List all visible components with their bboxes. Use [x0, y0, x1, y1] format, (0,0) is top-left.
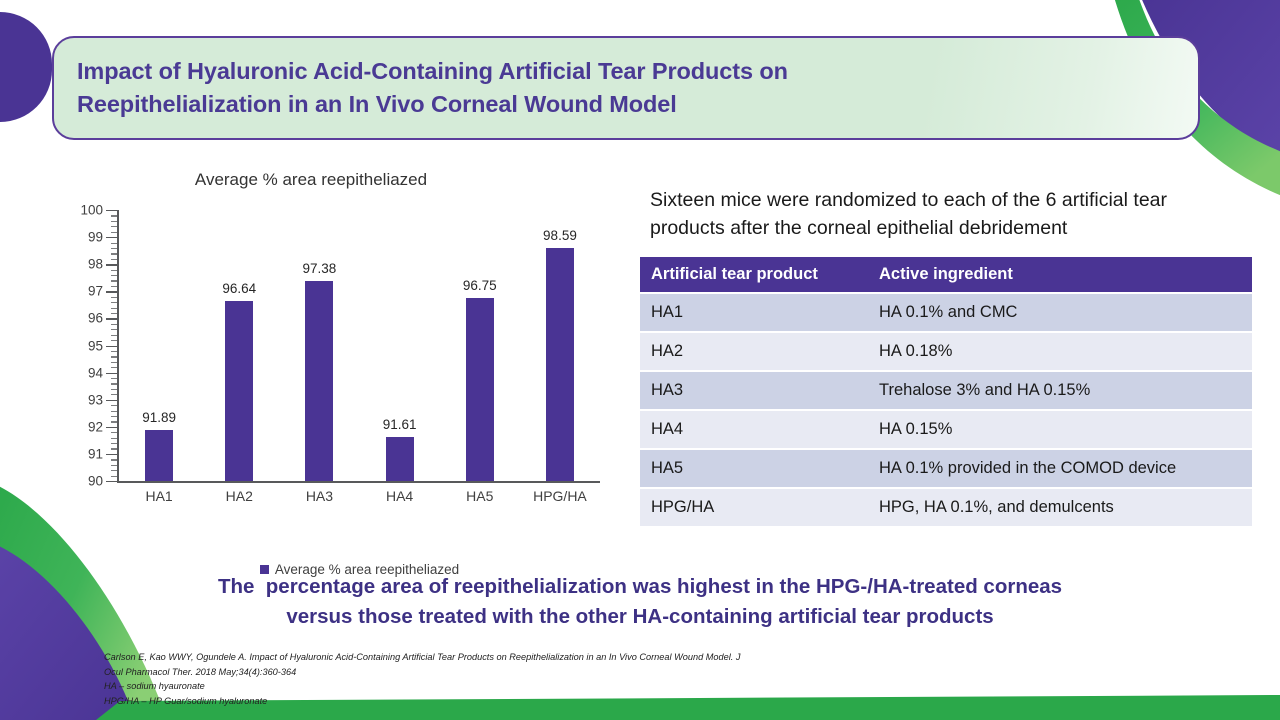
- chart-bar[interactable]: [386, 437, 414, 481]
- table-body: HA1HA 0.1% and CMCHA2HA 0.18%HA3Trehalos…: [640, 293, 1252, 526]
- chart-bar[interactable]: [225, 301, 253, 481]
- chart-bar[interactable]: [546, 248, 574, 481]
- table-cell-ingredient: HA 0.15%: [868, 410, 1252, 449]
- y-axis-tick: [106, 373, 117, 374]
- y-axis-minor-tick: [111, 443, 117, 444]
- chart-bar-group: 98.59: [520, 210, 600, 481]
- footnotes: Carlson E, Kao WWY, Ogundele A. Impact o…: [104, 650, 1004, 708]
- title-banner: Impact of Hyaluronic Acid-Containing Art…: [52, 36, 1200, 140]
- y-axis-minor-tick: [111, 324, 117, 325]
- y-axis-minor-tick: [111, 232, 117, 233]
- table-header-row: Artificial tear product Active ingredien…: [640, 257, 1252, 293]
- table-cell-ingredient: HPG, HA 0.1%, and demulcents: [868, 488, 1252, 526]
- y-axis-tick: [106, 318, 117, 319]
- y-axis-tick: [106, 264, 117, 265]
- bar-value-label: 96.75: [463, 278, 497, 293]
- y-axis-tick-label: 98: [67, 257, 103, 272]
- y-axis-minor-tick: [111, 389, 117, 390]
- y-axis-minor-tick: [111, 394, 117, 395]
- y-axis-minor-tick: [111, 411, 117, 412]
- y-axis-minor-tick: [111, 438, 117, 439]
- table-header-ingredient: Active ingredient: [868, 257, 1252, 293]
- y-axis-minor-tick: [111, 286, 117, 287]
- y-axis-minor-tick: [111, 416, 117, 417]
- y-axis-minor-tick: [111, 383, 117, 384]
- conclusion-statement: The percentage area of reepithelializati…: [120, 572, 1160, 631]
- y-axis-minor-tick: [111, 275, 117, 276]
- chart-bar-group: 91.89: [119, 210, 199, 481]
- y-axis-minor-tick: [111, 356, 117, 357]
- table-cell-product: HA3: [640, 371, 868, 410]
- y-axis-minor-tick: [111, 405, 117, 406]
- y-axis-minor-tick: [111, 297, 117, 298]
- y-axis-tick-label: 99: [67, 230, 103, 245]
- table-row: HA1HA 0.1% and CMC: [640, 293, 1252, 332]
- bar-value-label: 98.59: [543, 228, 577, 243]
- bar-value-label: 91.89: [142, 410, 176, 425]
- y-axis-tick-label: 90: [67, 474, 103, 489]
- artificial-tear-products-table: Artificial tear product Active ingredien…: [640, 257, 1252, 526]
- y-axis-minor-tick: [111, 329, 117, 330]
- citation-line-1: Carlson E, Kao WWY, Ogundele A. Impact o…: [104, 650, 1004, 665]
- slide-root: Impact of Hyaluronic Acid-Containing Art…: [0, 0, 1280, 720]
- y-axis-tick: [106, 400, 117, 401]
- x-axis-label: HPG/HA: [520, 488, 600, 504]
- y-axis-minor-tick: [111, 421, 117, 422]
- y-axis-tick-label: 95: [67, 338, 103, 353]
- y-axis-minor-tick: [111, 459, 117, 460]
- y-axis-tick: [106, 210, 117, 211]
- y-axis-tick-label: 96: [67, 311, 103, 326]
- table-cell-product: HA1: [640, 293, 868, 332]
- abbreviation-hpgha: HPG/HA – HP Guar/sodium hyaluronate: [104, 694, 1004, 709]
- citation-line-2: Ocul Pharmacol Ther. 2018 May;34(4):360-…: [104, 665, 1004, 680]
- chart-title: Average % area reepitheliazed: [46, 170, 576, 190]
- intro-paragraph: Sixteen mice were randomized to each of …: [650, 186, 1216, 243]
- y-axis-tick-label: 92: [67, 419, 103, 434]
- chart-bar-group: 97.38: [279, 210, 359, 481]
- chart-bar-group: 96.75: [440, 210, 520, 481]
- x-axis-label: HA1: [119, 488, 199, 504]
- x-axis-label: HA3: [279, 488, 359, 504]
- y-axis-tick-label: 91: [67, 446, 103, 461]
- table-cell-product: HA2: [640, 332, 868, 371]
- x-axis-label: HA4: [360, 488, 440, 504]
- table-row: HPG/HAHPG, HA 0.1%, and demulcents: [640, 488, 1252, 526]
- chart-bar-group: 91.61: [360, 210, 440, 481]
- table-cell-product: HA4: [640, 410, 868, 449]
- abbreviation-ha: HA – sodium hyauronate: [104, 679, 1004, 694]
- y-axis-minor-tick: [111, 351, 117, 352]
- y-axis-tick-label: 97: [67, 284, 103, 299]
- table-header-product: Artificial tear product: [640, 257, 868, 293]
- y-axis-minor-tick: [111, 243, 117, 244]
- y-axis-minor-tick: [111, 253, 117, 254]
- chart-bar[interactable]: [305, 281, 333, 481]
- table-row: HA2HA 0.18%: [640, 332, 1252, 371]
- chart-bar-group: 96.64: [199, 210, 279, 481]
- bar-chart: Average % area reepitheliazed 1009998979…: [58, 168, 618, 548]
- table-cell-ingredient: Trehalose 3% and HA 0.15%: [868, 371, 1252, 410]
- x-axis-line: [117, 481, 600, 483]
- y-axis-tick-label: 100: [67, 203, 103, 218]
- y-axis-minor-tick: [111, 465, 117, 466]
- y-axis-minor-tick: [111, 448, 117, 449]
- y-axis-tick-label: 94: [67, 365, 103, 380]
- y-axis-minor-tick: [111, 259, 117, 260]
- decorative-blob-top-left: [0, 12, 52, 122]
- y-axis-minor-tick: [111, 335, 117, 336]
- chart-bar[interactable]: [466, 298, 494, 481]
- chart-plot-area: 10099989796959493929190 91.8996.6497.389…: [88, 210, 600, 482]
- y-axis-minor-tick: [111, 226, 117, 227]
- y-axis-minor-tick: [111, 270, 117, 271]
- y-axis-minor-tick: [111, 248, 117, 249]
- y-axis-minor-tick: [111, 362, 117, 363]
- y-axis-minor-tick: [111, 378, 117, 379]
- y-axis-minor-tick: [111, 215, 117, 216]
- y-axis-tick: [106, 427, 117, 428]
- x-axis-label: HA2: [199, 488, 279, 504]
- table-row: HA4HA 0.15%: [640, 410, 1252, 449]
- y-axis-tick-label: 93: [67, 392, 103, 407]
- y-axis-minor-tick: [111, 476, 117, 477]
- y-axis-minor-tick: [111, 308, 117, 309]
- y-axis-tick: [106, 454, 117, 455]
- y-axis-tick: [106, 237, 117, 238]
- table-cell-product: HPG/HA: [640, 488, 868, 526]
- y-axis-minor-tick: [111, 432, 117, 433]
- y-axis-tick: [106, 481, 117, 482]
- y-axis-tick: [106, 291, 117, 292]
- bar-value-label: 97.38: [303, 261, 337, 276]
- table-cell-product: HA5: [640, 449, 868, 488]
- y-axis-minor-tick: [111, 280, 117, 281]
- page-title: Impact of Hyaluronic Acid-Containing Art…: [54, 55, 977, 122]
- chart-bar[interactable]: [145, 430, 173, 481]
- bar-value-label: 91.61: [383, 417, 417, 432]
- chart-bars: 91.8996.6497.3891.6196.7598.59: [119, 210, 600, 481]
- y-axis-minor-tick: [111, 470, 117, 471]
- x-axis-label: HA5: [440, 488, 520, 504]
- y-axis-minor-tick: [111, 340, 117, 341]
- y-axis-minor-tick: [111, 221, 117, 222]
- table-cell-ingredient: HA 0.1% provided in the COMOD device: [868, 449, 1252, 488]
- x-axis-labels: HA1HA2HA3HA4HA5HPG/HA: [119, 488, 600, 504]
- table-row: HA5HA 0.1% provided in the COMOD device: [640, 449, 1252, 488]
- table-cell-ingredient: HA 0.18%: [868, 332, 1252, 371]
- y-axis-tick: [106, 346, 117, 347]
- y-axis-minor-tick: [111, 302, 117, 303]
- table-cell-ingredient: HA 0.1% and CMC: [868, 293, 1252, 332]
- bar-value-label: 96.64: [222, 281, 256, 296]
- table-row: HA3Trehalose 3% and HA 0.15%: [640, 371, 1252, 410]
- y-axis-minor-tick: [111, 313, 117, 314]
- y-axis-minor-tick: [111, 367, 117, 368]
